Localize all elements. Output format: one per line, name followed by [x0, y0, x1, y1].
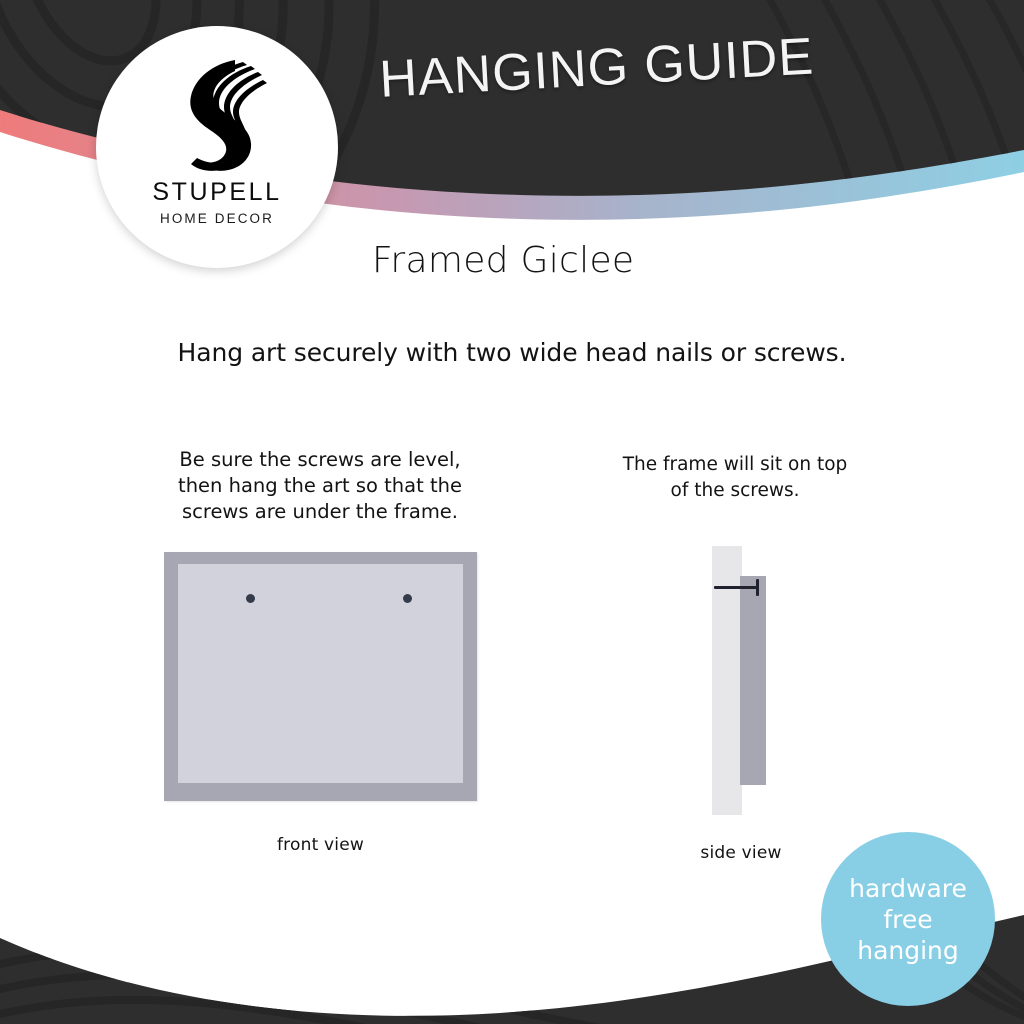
side-view-diagram: [706, 546, 776, 818]
front-view-instruction-line: then hang the art so that the: [160, 473, 480, 499]
nail-shaft-icon: [714, 586, 759, 589]
side-view-instruction-line: of the screws.: [600, 478, 870, 504]
badge-line-1: hardware: [849, 873, 967, 904]
primary-instruction: Hang art securely with two wide head nai…: [0, 338, 1024, 367]
front-view-instruction-line: Be sure the screws are level,: [160, 447, 480, 473]
screw-marker-right: [403, 594, 412, 603]
hanging-guide-poster: HANGING GUIDE STUPELL HOME DECOR Framed …: [0, 0, 1024, 1024]
side-view-frame: [740, 576, 766, 785]
nail-head-icon: [756, 579, 759, 596]
stupell-swoosh-icon: [161, 54, 273, 178]
side-view-caption: side view: [666, 843, 816, 863]
front-view-instruction: Be sure the screws are level, then hang …: [160, 447, 480, 525]
side-view-instruction-line: The frame will sit on top: [600, 452, 870, 478]
brand-logo-badge: STUPELL HOME DECOR: [96, 26, 338, 268]
badge-line-2: free: [883, 904, 932, 935]
front-view-diagram: [164, 552, 477, 801]
front-view-artwork-area: [178, 564, 463, 783]
logo-wordmark: STUPELL: [152, 180, 281, 205]
screw-marker-left: [246, 594, 255, 603]
product-type-title: Framed Giclee: [372, 240, 634, 281]
front-view-caption: front view: [164, 835, 477, 855]
front-view-instruction-line: screws are under the frame.: [160, 499, 480, 525]
page-title: HANGING GUIDE: [378, 26, 815, 109]
side-view-instruction: The frame will sit on top of the screws.: [600, 452, 870, 504]
badge-line-3: hanging: [857, 935, 959, 966]
logo-subwordmark: HOME DECOR: [160, 212, 274, 226]
hardware-free-badge: hardware free hanging: [821, 832, 995, 1006]
